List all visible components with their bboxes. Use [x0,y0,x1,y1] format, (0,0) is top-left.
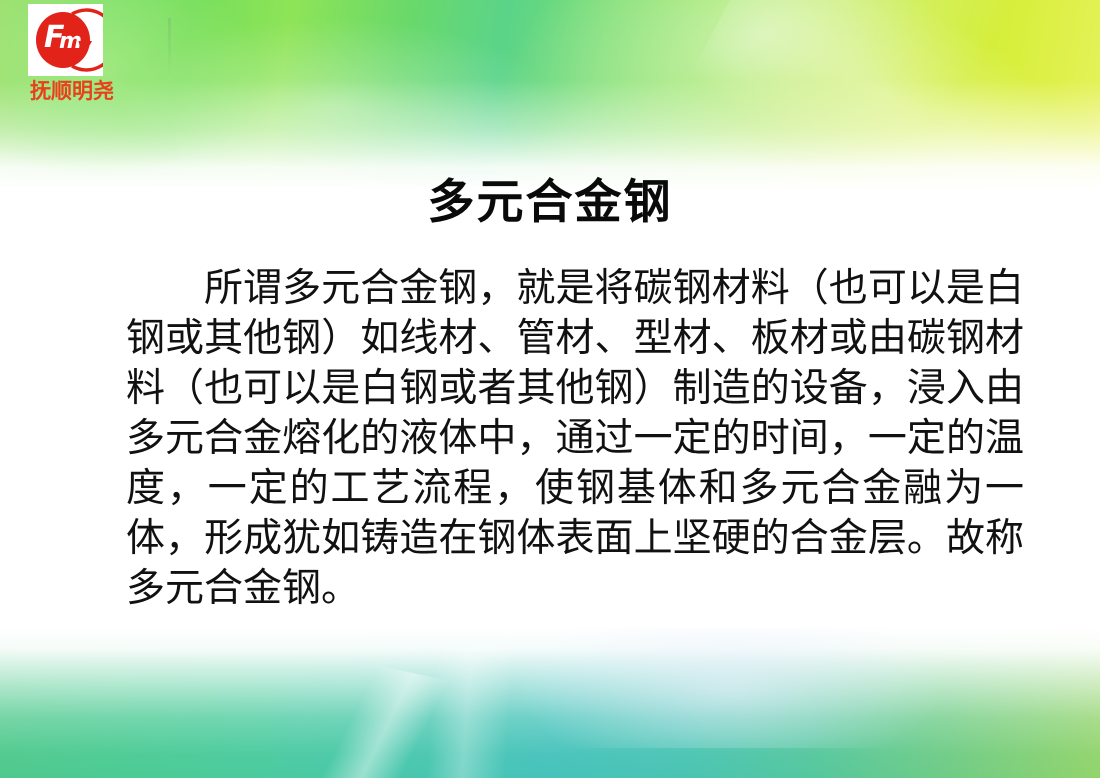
presentation-slide: F m y 抚顺明尧 多元合金钢 所谓多元合金钢，就是将碳钢材料（也可以是白钢或… [0,0,1100,778]
slide-title: 多元合金钢 [0,163,1100,232]
svg-text:y: y [77,34,93,59]
company-name-label: 抚顺明尧 [12,80,132,102]
slide-content: 多元合金钢 所谓多元合金钢，就是将碳钢材料（也可以是白钢或其他钢）如线材、管材、… [0,0,1100,778]
slide-body-text: 所谓多元合金钢，就是将碳钢材料（也可以是白钢或其他钢）如线材、管材、型材、板材或… [126,264,1024,614]
company-logo: F m y 抚顺明尧 [12,4,132,102]
fmy-logo-icon: F m y [28,4,103,76]
body-paragraph: 所谓多元合金钢，就是将碳钢材料（也可以是白钢或其他钢）如线材、管材、型材、板材或… [126,264,1024,614]
